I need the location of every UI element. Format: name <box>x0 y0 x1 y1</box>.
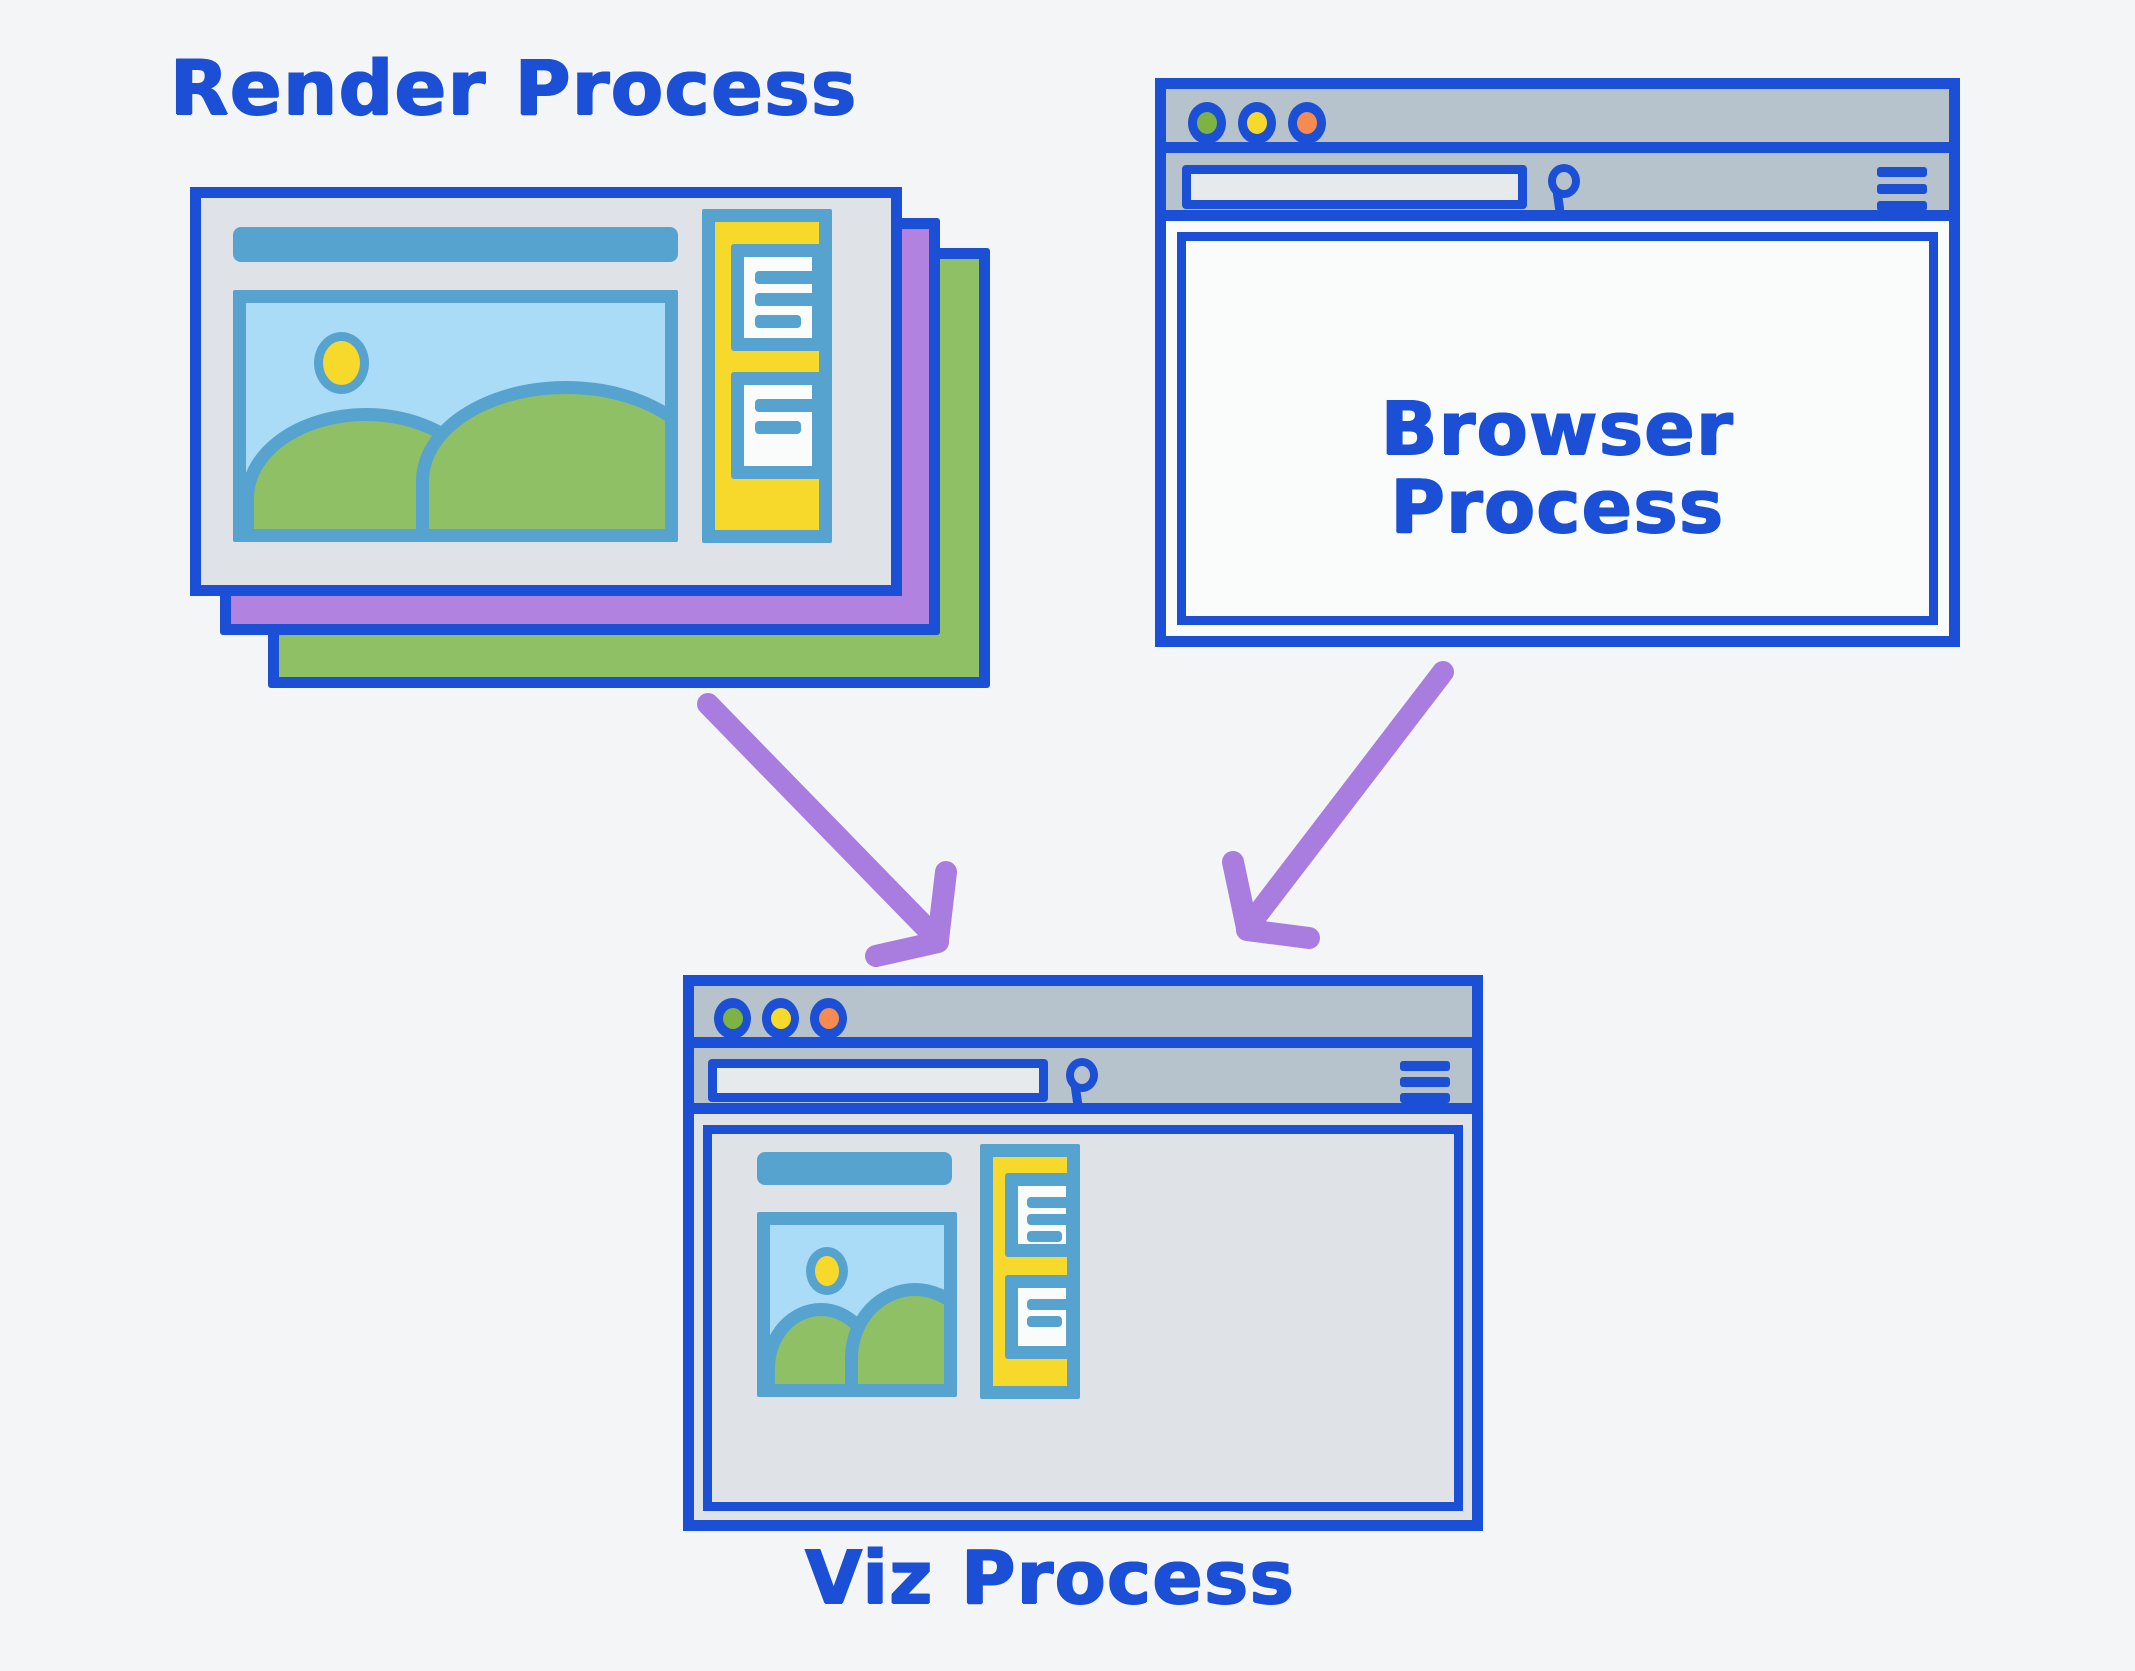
card-text-line <box>755 315 801 328</box>
browser-titlebar <box>1166 89 1949 153</box>
viz-toolbar <box>694 1048 1472 1114</box>
browser-toolbar <box>1166 153 1949 221</box>
render-sidebar-card[interactable] <box>731 372 825 479</box>
render-hero-image <box>233 290 678 542</box>
sun-icon <box>314 332 369 394</box>
hill-right <box>845 1283 957 1397</box>
card-text-line <box>755 421 801 434</box>
card-text-line <box>755 399 817 412</box>
traffic-light-orange[interactable] <box>1288 102 1326 144</box>
card-text-line <box>1027 1316 1062 1327</box>
viz-sidebar-card[interactable] <box>1005 1173 1079 1257</box>
arrow-render-to-viz <box>690 690 1010 990</box>
card-text-line <box>1027 1197 1075 1208</box>
search-icon[interactable] <box>1066 1058 1100 1106</box>
card-text-line <box>755 271 817 284</box>
hamburger-menu-icon[interactable] <box>1877 167 1927 211</box>
viz-headline-placeholder <box>757 1152 952 1185</box>
sun-icon <box>806 1247 848 1295</box>
browser-process-label: Browser Process <box>1186 391 1929 546</box>
card-text-line <box>755 293 817 306</box>
traffic-lights <box>1188 102 1326 144</box>
viz-process-label: Viz Process <box>805 1540 1295 1618</box>
traffic-light-orange[interactable] <box>810 998 847 1039</box>
diagram-canvas: Render Process <box>0 0 2135 1671</box>
traffic-lights <box>714 998 847 1039</box>
render-window[interactable] <box>190 187 902 596</box>
traffic-light-green[interactable] <box>1188 102 1226 144</box>
browser-page-area: Browser Process <box>1177 232 1938 625</box>
address-bar-input[interactable] <box>708 1059 1048 1102</box>
address-bar-input[interactable] <box>1182 165 1527 209</box>
traffic-light-green[interactable] <box>714 998 751 1039</box>
viz-window[interactable] <box>683 975 1483 1531</box>
render-sidebar <box>702 209 832 543</box>
search-icon[interactable] <box>1548 164 1582 212</box>
hamburger-menu-icon[interactable] <box>1400 1061 1450 1103</box>
arrow-browser-to-viz <box>1205 650 1525 970</box>
browser-window[interactable]: Browser Process <box>1155 78 1960 647</box>
render-headline-placeholder <box>233 227 678 262</box>
viz-page-area <box>703 1125 1463 1511</box>
card-text-line <box>1027 1214 1075 1225</box>
viz-titlebar <box>694 986 1472 1048</box>
card-text-line <box>1027 1299 1075 1310</box>
traffic-light-yellow[interactable] <box>762 998 799 1039</box>
render-sidebar-card[interactable] <box>731 244 825 351</box>
viz-sidebar <box>980 1144 1080 1399</box>
traffic-light-yellow[interactable] <box>1238 102 1276 144</box>
render-process-label: Render Process <box>170 48 858 128</box>
hill-right <box>416 381 678 542</box>
viz-sidebar-card[interactable] <box>1005 1275 1079 1359</box>
card-text-line <box>1027 1231 1062 1242</box>
viz-hero-image <box>757 1212 957 1397</box>
